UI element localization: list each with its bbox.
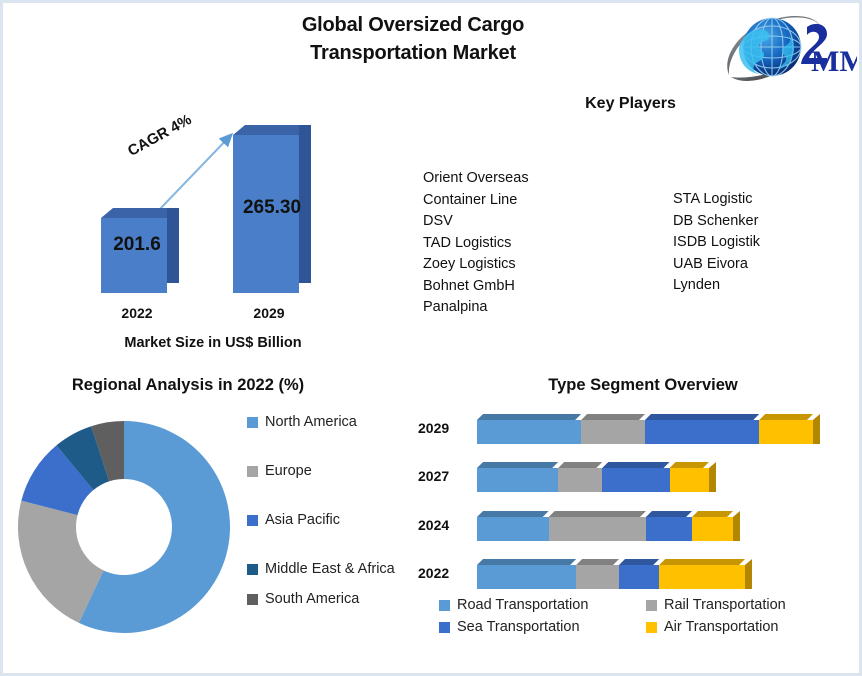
cagr-label: CAGR 4%	[125, 111, 194, 160]
legend-item-europe[interactable]: Europe	[247, 462, 397, 480]
key-player-item: Zoey Logistics	[423, 254, 583, 276]
stack-segment-top	[692, 511, 733, 517]
stack-segment-rail-transportation[interactable]	[549, 517, 646, 541]
key-players-title: Key Players	[523, 95, 738, 113]
stack-segment-road-transportation[interactable]	[477, 565, 576, 589]
stack-row-year: 2024	[418, 517, 466, 533]
stack-segment-sea-transportation[interactable]	[645, 420, 759, 444]
legend-swatch-icon	[247, 417, 258, 428]
key-player-item: Bohnet GmbH	[423, 276, 583, 298]
legend-swatch-icon	[646, 622, 657, 633]
stack-segment-top	[477, 462, 558, 468]
type-segment-title: Type Segment Overview	[433, 376, 853, 395]
stack-row-2029: 2029	[413, 408, 853, 450]
stack-segment-rail-transportation[interactable]	[581, 420, 645, 444]
legend-swatch-icon	[439, 600, 450, 611]
bar-2029-value: 265.30	[227, 197, 317, 219]
stack-row-2024: 2024	[413, 505, 853, 547]
key-player-item: DSV	[423, 211, 583, 233]
stack-segment-road-transportation[interactable]	[477, 420, 581, 444]
legend-item-rail-transportation[interactable]: Rail Transportation	[646, 597, 839, 613]
key-player-item: Lynden	[673, 275, 843, 297]
legend-swatch-icon	[247, 564, 258, 575]
logo-text: MMR	[811, 45, 857, 78]
legend-item-sea-transportation[interactable]: Sea Transportation	[439, 619, 632, 635]
stack-segment-top	[549, 511, 646, 517]
stack-segment-side	[745, 559, 752, 589]
key-player-item: ISDB Logistik	[673, 232, 843, 254]
donut-hole	[76, 479, 172, 575]
legend-swatch-icon	[439, 622, 450, 633]
stack-segment-road-transportation[interactable]	[477, 517, 549, 541]
stack-segment-road-transportation[interactable]	[477, 468, 558, 492]
regional-chart-title: Regional Analysis in 2022 (%)	[23, 376, 353, 395]
infographic-page: Global Oversized Cargo Transportation Ma…	[0, 0, 862, 676]
legend-label: Air Transportation	[664, 619, 778, 635]
stacked-bar	[477, 414, 813, 444]
legend-label: Rail Transportation	[664, 597, 786, 613]
type-segment-legend: Road Transportation Rail Transportation …	[439, 597, 839, 635]
key-players-column-2: STA Logistic DB Schenker ISDB Logistik U…	[673, 189, 843, 297]
regional-donut-chart	[18, 421, 230, 633]
stack-segment-top	[477, 511, 549, 517]
key-player-item: DB Schenker	[673, 211, 843, 233]
stack-segment-top	[477, 414, 581, 420]
stack-row-year: 2022	[418, 565, 466, 581]
legend-swatch-icon	[646, 600, 657, 611]
stack-segment-rail-transportation[interactable]	[558, 468, 602, 492]
legend-item-north-america[interactable]: North America	[247, 413, 397, 431]
stacked-bar	[477, 462, 709, 492]
legend-item-south-america[interactable]: South America	[247, 590, 397, 608]
legend-item-road-transportation[interactable]: Road Transportation	[439, 597, 632, 613]
legend-label: South America	[265, 590, 359, 608]
stack-segment-top	[581, 414, 645, 420]
key-player-item: Container Line	[423, 190, 583, 212]
stack-segment-top	[602, 462, 669, 468]
stack-segment-top	[645, 414, 759, 420]
stack-segment-sea-transportation[interactable]	[602, 468, 669, 492]
logo-globe-icon	[739, 18, 801, 76]
stack-segment-top	[670, 462, 709, 468]
stack-segment-air-transportation[interactable]	[670, 468, 709, 492]
stack-segment-side	[709, 462, 716, 492]
bar-2029-year: 2029	[231, 305, 307, 321]
key-player-item: STA Logistic	[673, 189, 843, 211]
stack-segment-air-transportation[interactable]	[692, 517, 733, 541]
stack-segment-top	[659, 559, 745, 565]
legend-label: Europe	[265, 462, 312, 480]
legend-swatch-icon	[247, 515, 258, 526]
type-segment-chart: 2029 2027 2024 2022	[413, 408, 853, 593]
legend-item-air-transportation[interactable]: Air Transportation	[646, 619, 839, 635]
stack-segment-side	[733, 511, 740, 541]
key-players-column-1: Orient Overseas Container Line DSV TAD L…	[423, 168, 583, 319]
stack-segment-sea-transportation[interactable]	[619, 565, 659, 589]
legend-label: Middle East & Africa	[265, 560, 395, 578]
mmr-logo: MMR	[721, 9, 857, 87]
stack-segment-top	[619, 559, 659, 565]
page-title-line-1: Global Oversized Cargo	[302, 14, 524, 36]
key-player-item: Orient Overseas	[423, 168, 583, 190]
legend-label: Sea Transportation	[457, 619, 580, 635]
regional-legend: North America Europe Asia Pacific Middle…	[247, 413, 397, 608]
stack-segment-air-transportation[interactable]	[759, 420, 813, 444]
stacked-bar	[477, 559, 745, 589]
key-player-item: Panalpina	[423, 297, 583, 319]
stack-row-2022: 2022	[413, 553, 853, 595]
stack-segment-top	[759, 414, 813, 420]
legend-label: North America	[265, 413, 357, 431]
stack-segment-top	[576, 559, 619, 565]
market-size-axis-label: Market Size in US$ Billion	[83, 335, 343, 351]
bar-2022-year: 2022	[99, 305, 175, 321]
stack-segment-air-transportation[interactable]	[659, 565, 745, 589]
legend-label: Road Transportation	[457, 597, 588, 613]
stacked-bar	[477, 511, 733, 541]
legend-label: Asia Pacific	[265, 511, 340, 529]
key-player-item: TAD Logistics	[423, 233, 583, 255]
legend-swatch-icon	[247, 594, 258, 605]
legend-swatch-icon	[247, 466, 258, 477]
page-title-line-2: Transportation Market	[203, 39, 623, 67]
legend-item-asia-pacific[interactable]: Asia Pacific	[247, 511, 397, 529]
stack-row-year: 2027	[418, 468, 466, 484]
legend-item-middle-east-africa[interactable]: Middle East & Africa	[247, 560, 397, 578]
stack-row-2027: 2027	[413, 456, 853, 498]
page-title: Global Oversized Cargo Transportation Ma…	[203, 11, 623, 67]
key-player-item: UAB Eivora	[673, 254, 843, 276]
market-size-chart: CAGR 4% 201.6 2022 265.30 2029 Market Si…	[63, 113, 403, 363]
stack-segment-top	[558, 462, 602, 468]
stack-segment-sea-transportation[interactable]	[646, 517, 692, 541]
stack-segment-top	[646, 511, 692, 517]
stack-row-year: 2029	[418, 420, 466, 436]
stack-segment-side	[813, 414, 820, 444]
stack-segment-top	[477, 559, 576, 565]
stack-segment-rail-transportation[interactable]	[576, 565, 619, 589]
bar-2022-value: 201.6	[99, 234, 175, 256]
